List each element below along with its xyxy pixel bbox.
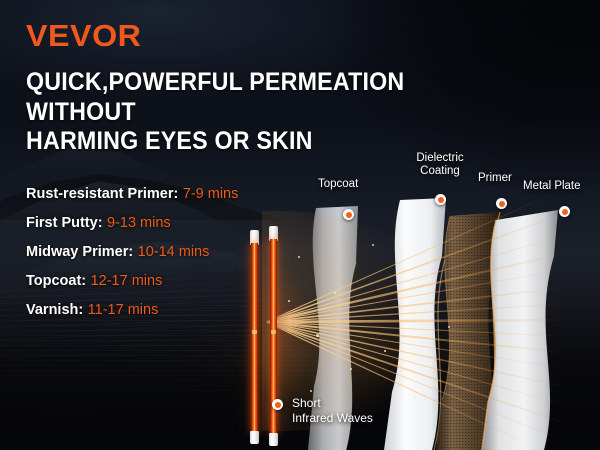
- callout-label-metal-plate: Metal Plate: [523, 180, 581, 193]
- spec-label: Varnish:: [26, 302, 83, 318]
- spec-label: Topcoat:: [26, 273, 86, 289]
- layer-dielectric-coating: [384, 198, 446, 450]
- list-item: Topcoat: 12-17 mins: [26, 266, 306, 295]
- list-item: Midway Primer: 10-14 mins: [26, 237, 306, 266]
- spec-value: 7-9 mins: [183, 186, 239, 202]
- spec-label: Rust-resistant Primer:: [26, 186, 178, 202]
- page-title: QUICK,POWERFUL PERMEATION WITHOUT HARMIN…: [26, 68, 491, 157]
- callout-label-primer: Primer: [478, 172, 512, 185]
- spec-label: Midway Primer:: [26, 244, 133, 260]
- spec-label: First Putty:: [26, 215, 103, 231]
- spec-value: 10-14 mins: [138, 244, 210, 260]
- spec-value: 11-17 mins: [88, 302, 159, 318]
- vevor-logo: VEVOR: [26, 18, 141, 54]
- list-item: Rust-resistant Primer: 7-9 mins: [26, 179, 306, 208]
- spec-value: 9-13 mins: [107, 215, 171, 231]
- callout-dot-primer: [496, 198, 507, 209]
- callout-label-dielectric-coating: Dielectric Coating: [400, 152, 480, 178]
- spec-value: 12-17 mins: [91, 273, 163, 289]
- infrared-lamp-left: [250, 230, 259, 444]
- callout-label-topcoat: Topcoat: [318, 178, 358, 191]
- infrared-lamp-right: [269, 226, 278, 446]
- list-item: First Putty: 9-13 mins: [26, 208, 306, 237]
- drying-time-list: Rust-resistant Primer: 7-9 mins First Pu…: [26, 179, 306, 324]
- callout-dot-metal-plate: [559, 206, 570, 217]
- callout-label-infrared-waves: Short Infrared Waves: [292, 396, 373, 426]
- list-item: Varnish: 11-17 mins: [26, 295, 306, 324]
- infographic-banner: VEVOR QUICK,POWERFUL PERMEATION WITHOUT …: [0, 0, 600, 450]
- callout-dot-dielectric-coating: [435, 194, 446, 205]
- callout-dot-infrared-waves: [272, 399, 283, 410]
- callout-dot-topcoat: [343, 209, 354, 220]
